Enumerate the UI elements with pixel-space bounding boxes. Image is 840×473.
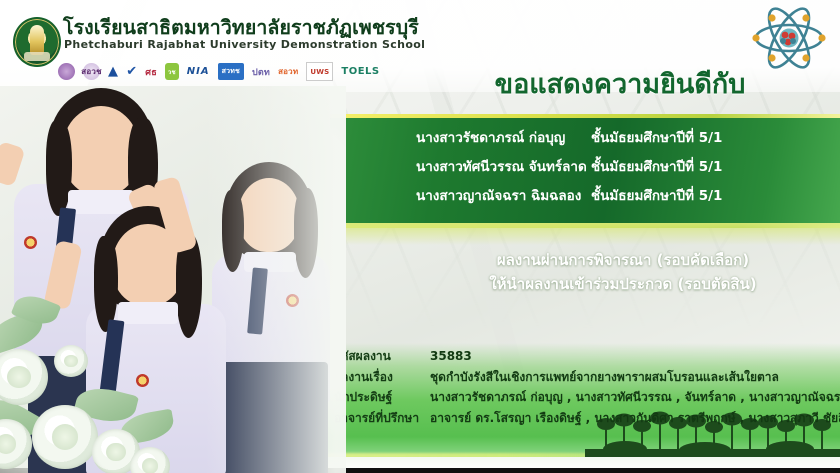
student-row: นางสาวรัชดาภรณ์ ก่อบุญ ชั้นมัธยมศึกษาปีท… bbox=[416, 126, 722, 155]
detail-label: นักประดิษฐ์ bbox=[334, 387, 430, 408]
partner-logo-9: ปตท bbox=[252, 63, 270, 80]
partner-logo-2: สอวช bbox=[83, 63, 100, 80]
student-name: นางสาวรัชดาภรณ์ ก่อบุญ bbox=[416, 126, 591, 148]
result-message: ผลงานผ่านการพิจารณา (รอบคัดเลือก) ให้นำผ… bbox=[418, 248, 828, 296]
project-details: รหัสผลงาน 35883 ผลงานเรื่อง ชุดกำบังรังส… bbox=[334, 346, 839, 428]
student-grade: ชั้นมัธยมศึกษาปีที่ 5/1 bbox=[591, 155, 722, 177]
partner-logo-row: สอวช ▲ ✔ ศธ วช NIA สวทช ปตท สอวท UWS TOE… bbox=[58, 62, 380, 81]
detail-row-code: รหัสผลงาน 35883 bbox=[334, 346, 839, 367]
partner-logo-12: TOELS bbox=[341, 63, 379, 80]
student-grade: ชั้นมัธยมศึกษาปีที่ 5/1 bbox=[591, 126, 722, 148]
detail-value: นางสาวรัชดาภรณ์ ก่อบุญ , นางสาวทัศนีวรรณ… bbox=[430, 387, 840, 408]
student-name: นางสาวทัศนีวรรณ จันทร์ลาด bbox=[416, 155, 591, 177]
rose-bouquet-decor bbox=[0, 293, 195, 473]
student-name: นางสาวญาณัจฉรา ฉิมฉลอง bbox=[416, 184, 591, 206]
result-line-2: ให้นำผลงานเข้าร่วมประกวด (รอบตัดสิน) bbox=[418, 272, 828, 296]
detail-row-title: ผลงานเรื่อง ชุดกำบังรังสีในเชิงการแพทย์จ… bbox=[334, 367, 839, 388]
detail-row-advisors: อาจารย์ที่ปรึกษา อาจารย์ ดร.โสรญา เรืองด… bbox=[334, 408, 839, 429]
detail-label: รหัสผลงาน bbox=[334, 346, 430, 367]
partner-logo-11: UWS bbox=[306, 62, 333, 81]
student-names-band: นางสาวรัชดาภรณ์ ก่อบุญ ชั้นมัธยมศึกษาปีท… bbox=[330, 118, 840, 223]
partner-logo-8: สวทช bbox=[218, 63, 244, 80]
detail-value: ชุดกำบังรังสีในเชิงการแพทย์จากยางพาราผสม… bbox=[430, 367, 779, 388]
partner-logo-5: ศธ bbox=[145, 63, 157, 80]
school-emblem-icon bbox=[13, 17, 61, 67]
student-row: นางสาวทัศนีวรรณ จันทร์ลาด ชั้นมัธยมศึกษา… bbox=[416, 155, 722, 184]
partner-logo-7: NIA bbox=[187, 63, 210, 80]
partner-logo-6: วช bbox=[165, 63, 179, 80]
result-line-1: ผลงานผ่านการพิจารณา (รอบคัดเลือก) bbox=[418, 248, 828, 272]
partner-logo-3: ▲ bbox=[108, 63, 118, 80]
detail-value: 35883 bbox=[430, 346, 472, 367]
school-name-english: Phetchaburi Rajabhat University Demonstr… bbox=[64, 38, 425, 51]
detail-label: ผลงานเรื่อง bbox=[334, 367, 430, 388]
partner-logo-10: สอวท bbox=[278, 63, 298, 80]
student-photo bbox=[0, 86, 346, 473]
atom-icon bbox=[746, 6, 832, 70]
detail-row-inventors: นักประดิษฐ์ นางสาวรัชดาภรณ์ ก่อบุญ , นาง… bbox=[334, 387, 839, 408]
student-grade: ชั้นมัธยมศึกษาปีที่ 5/1 bbox=[591, 184, 722, 206]
partner-logo-4: ✔ bbox=[126, 63, 137, 80]
student-row: นางสาวญาณัจฉรา ฉิมฉลอง ชั้นมัธยมศึกษาปีท… bbox=[416, 184, 722, 213]
congratulations-poster: โรงเรียนสาธิตมหาวิทยาลัยราชภัฏเพชรบุรี P… bbox=[0, 0, 840, 473]
partner-logo-1 bbox=[58, 63, 75, 80]
page-title: ขอแสดงความยินดีกับ bbox=[418, 62, 822, 104]
detail-value: อาจารย์ ดร.โสรญา เรืองดิษฐ์ , นางสาวกันด… bbox=[430, 408, 840, 429]
detail-label: อาจารย์ที่ปรึกษา bbox=[334, 408, 430, 429]
student-list: นางสาวรัชดาภรณ์ ก่อบุญ ชั้นมัธยมศึกษาปีท… bbox=[416, 126, 722, 213]
